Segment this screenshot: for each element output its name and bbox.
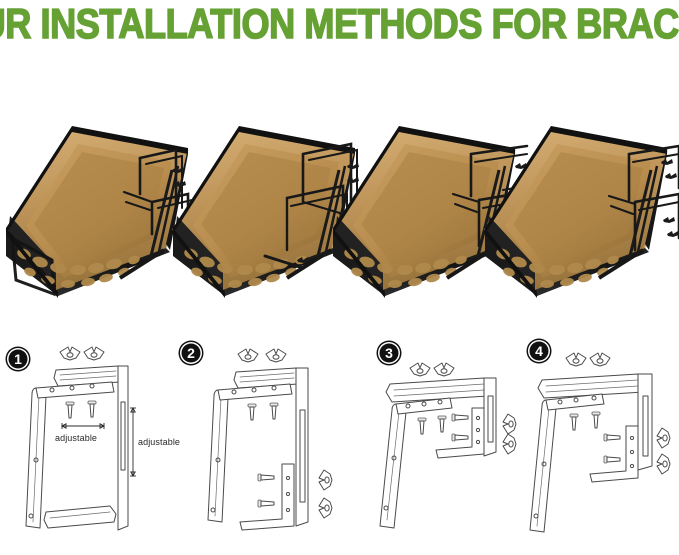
- diagram-3-graphic: [372, 330, 532, 555]
- step-badge-2: 2: [180, 342, 202, 364]
- bolt-icon: [452, 414, 468, 441]
- wing-nut-icon: [319, 470, 332, 518]
- bolt-icon: [258, 474, 274, 507]
- wing-nut-icon: [60, 347, 104, 360]
- planter-photo-row: [0, 110, 679, 310]
- adjustable-label-horizontal: adjustable: [55, 433, 97, 443]
- adjustable-horizontal-dim: [62, 423, 104, 429]
- step-badge-1: 1: [7, 348, 29, 370]
- wing-nut-icon: [410, 363, 454, 376]
- planter-method-4: [479, 110, 679, 310]
- diagram-2-graphic: [172, 330, 348, 555]
- diagram-method-4: 4: [520, 330, 679, 555]
- screw-icon: [570, 412, 600, 430]
- diagram-4-graphic: [520, 330, 679, 555]
- bolt-icon: [604, 434, 620, 463]
- wing-nut-icon: [238, 349, 286, 362]
- wing-nut-icon: [503, 414, 516, 454]
- diagram-method-3: 3: [372, 330, 532, 555]
- diagram-method-2: 2: [172, 330, 348, 555]
- wing-nut-icon: [566, 353, 610, 366]
- step-badge-3: 3: [378, 342, 400, 364]
- wing-nut-icon: [657, 428, 670, 474]
- screw-icon: [418, 416, 446, 434]
- screw-icon: [66, 401, 96, 418]
- title-band: FOUR INSTALLATION METHODS FOR BRACKET: [0, 0, 679, 52]
- step-badge-4: 4: [528, 340, 550, 362]
- infographic-page: FOUR INSTALLATION METHODS FOR BRACKET: [0, 0, 679, 555]
- screw-icon: [248, 403, 278, 420]
- page-title: FOUR INSTALLATION METHODS FOR BRACKET: [0, 2, 679, 46]
- diagram-row: 1: [0, 330, 679, 555]
- adjustable-vertical-dim: [130, 408, 136, 476]
- diagram-method-1: 1: [0, 330, 176, 555]
- planter-4-graphic: [479, 110, 679, 310]
